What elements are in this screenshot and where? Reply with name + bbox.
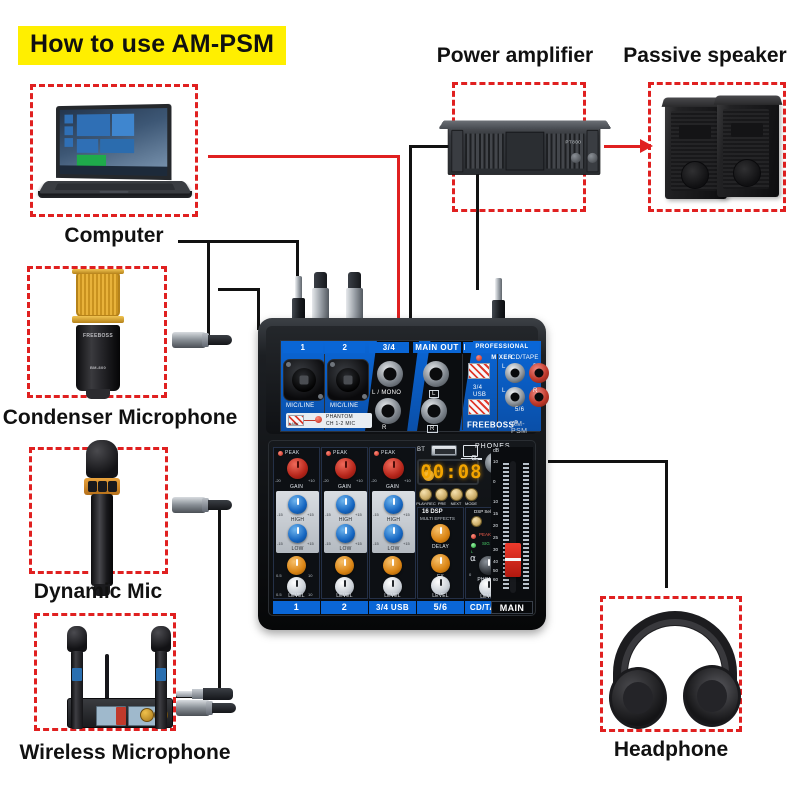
top-jack-mainout-l[interactable] [423,361,449,387]
bluetooth-label: BT [417,447,425,453]
vu-tick-10a: 10 [493,459,498,464]
peak-led-2 [326,451,331,456]
high-label-2: HIGH [324,517,367,523]
channel-strip-1: PEAK -20 +10 GAIN -15 +15 HIGH -15 +15 [273,447,320,599]
mixer-device[interactable]: 1 2 3/4 MAIN OUT POWER PROFESSIONAL MIXE… [258,318,546,630]
top-56-l: L [502,388,506,394]
peak-label-34: PEAK [381,450,396,456]
top-jack-ch2-label: MIC/LINE [330,403,358,409]
top-header-ch2: 2 [325,342,365,353]
top-cdtape-label: CD/TAPE [511,355,539,361]
vu-tick-40: 40 [493,559,498,564]
dsp-title: 16 DSP [422,509,443,515]
channel-strip-2: PEAK -20 +10 GAIN -15 +15 HIGH -15 +15 [321,447,368,599]
vu-tick-15: 15 [493,511,498,516]
sig-led-left [471,543,476,548]
level-label-1: LEVEL [274,593,319,599]
main-fader[interactable] [505,543,521,577]
line-mixer-to-headphone-h [548,460,668,463]
mixer-top-panel: 1 2 3/4 MAIN OUT POWER PROFESSIONAL MIXE… [266,326,538,434]
line-dynamicmic-up-h [218,288,260,291]
wireless-microphone-box [34,613,176,731]
top-ch56-label: 5/6 [515,407,524,413]
channel-strip-34: PEAK -20 +10 GAIN -15 +15 HIGH -15 +15 [369,447,416,599]
gain-knob-34[interactable] [383,458,404,479]
delay-knob[interactable] [431,524,450,543]
top-jack-ch1-label: MIC/LINE [286,403,314,409]
condenser-mic-brand: FREEBOSS [83,333,113,339]
wireless-microphone-icon [33,612,183,737]
rca-56-r[interactable] [529,387,549,407]
level-label-34: LEVEL [370,593,415,599]
laptop-icon [36,99,196,203]
power-amplifier-label: Power amplifier [420,44,610,68]
top-56-r: R [533,388,538,394]
line-computer-to-mixer-h [208,155,400,158]
line-mixer-to-amplifier-v [409,145,412,325]
mixer-model: AM-PSM [511,421,539,435]
top-sep-2 [462,354,463,430]
gain-scale-34-left: -20 [371,478,377,483]
fx-knob-2[interactable] [335,556,354,575]
eq-panel-34: -15 +15 HIGH -15 +15 LOW [372,491,415,553]
meter-peak-label: PEAK [479,532,491,537]
phantom-power-block: +48V PHANTOM CH 1-2 MIC [286,413,372,428]
vu-tick-0: 0 [493,479,496,484]
phones-headphone-icon: ⍺ [470,554,476,563]
eq-panel-1: -15 +15 HIGH -15 +15 LOW [276,491,319,553]
gain-knob-2[interactable] [335,458,356,479]
vu-tick-30: 30 [493,547,498,552]
line-wirelessmic-v [218,610,221,698]
mixer-brand-name: FREEBOSS [467,421,514,430]
vu-led-column-right [523,463,529,589]
transport-button-playrec[interactable] [419,488,432,501]
top-jack-mainout-r[interactable] [421,398,447,424]
high-knob-1[interactable] [288,495,307,514]
peak-led-34 [374,451,379,456]
main-vu-meter: dB 10 0 10 15 20 25 30 40 50 60 [491,447,533,599]
top-jack-34-r-label: R [382,425,387,431]
wireless-trs-connector [176,688,236,700]
gain-scale-2-right: +10 [356,478,363,483]
gain-label-2: GAIN [322,484,367,490]
power-amplifier-box: PT800 [452,82,586,212]
fx-knob-1[interactable] [287,556,306,575]
high-label-1: HIGH [276,517,319,523]
peak-label-2: PEAK [333,450,348,456]
passive-speaker-label: Passive speaker [610,44,800,68]
vu-tick-20: 20 [493,523,498,528]
dsp-subtitle: MULTI EFFECTS [420,516,455,521]
rca-cdtape-r[interactable] [529,363,549,383]
usb-select-switch[interactable] [468,399,490,415]
wireless-xlr-connector [176,700,238,716]
dsp-select-down-button[interactable] [471,516,482,527]
phones-jack-headphone-icon: ⍺ [471,453,477,462]
transport-label-mode: MODE [461,501,481,506]
top-header-mainout: MAIN OUT [413,342,461,353]
top-jack-34-l-label: L / MONO [372,390,401,396]
vu-tick-50: 50 [493,568,498,573]
headphone-cup-left [609,667,667,729]
low-label-34: LOW [372,546,415,552]
gain-scale-1-left: -20 [275,478,281,483]
vu-tick-60: 60 [493,577,498,582]
high-knob-2[interactable] [336,495,355,514]
top-header-ch34: 3/4 [369,342,409,353]
level-label-2: LEVEL [322,593,367,599]
top-jack-ch1[interactable] [283,359,325,401]
top-jack-34-r[interactable] [375,398,401,424]
peak-label-1: PEAK [285,450,300,456]
low-knob-2[interactable] [336,524,355,543]
gain-scale-2-left: -20 [323,478,329,483]
channel-tag-main: MAIN [491,601,533,614]
phantom-text-1: PHANTOM [326,414,353,420]
computer-box [30,84,198,217]
gain-knob-1[interactable] [287,458,308,479]
fx-knob-34[interactable] [383,556,402,575]
line-condensermic-v1 [207,240,210,342]
top-jack-34-l[interactable] [377,361,403,387]
low-label-1: LOW [276,546,319,552]
high-label-34: HIGH [372,517,415,523]
power-switch[interactable] [468,363,490,379]
vu-tick-10b: 10 [493,499,498,504]
condenser-mic-xlr-connector [172,332,234,348]
power-led [476,355,482,361]
channel-tag-34: 3/4 USB [369,601,416,614]
computer-label: Computer [30,224,198,248]
transport-button-pre[interactable] [435,488,448,501]
dynamic-microphone-label: Dynamic Mic [8,580,188,604]
top-jack-mainout-l-label: L [429,390,439,398]
delay-label: DELAY [418,544,463,550]
vu-unit-label: dB [493,448,499,454]
condenser-microphone-box: FREEBOSS BM-800 [27,266,167,398]
page-title-banner: How to use AM-PSM [18,26,286,65]
low-label-2: LOW [324,546,367,552]
passive-speaker-icon-right [717,101,779,197]
mixer-top-face: 1 2 3/4 MAIN OUT POWER PROFESSIONAL MIXE… [280,340,540,432]
dynamic-mic-xlr-connector [172,497,234,513]
condenser-microphone-icon: FREEBOSS BM-800 [46,269,150,401]
gain-label-1: GAIN [274,484,319,490]
channel-tag-2: 2 [321,601,368,614]
transport-button-mode[interactable] [465,488,478,501]
condenser-microphone-label: Condenser Microphone [0,406,240,430]
low-knob-34[interactable] [384,524,403,543]
vu-tick-25: 25 [493,535,498,540]
usb-port[interactable] [431,445,457,456]
top-usb-label-2: USB [473,392,486,398]
phantom-text-2: CH 1-2 MIC [326,421,355,427]
channel-tag-56: 5/6 [417,601,464,614]
peak-led-1 [278,451,283,456]
power-amplifier-icon: PT800 [448,125,601,178]
top-sep-3 [497,354,498,430]
top-usb-label-1: 3/4 [473,385,482,391]
passive-speaker-box [648,82,786,212]
low-knob-1[interactable] [288,524,307,543]
level-label-56: LEVEL [418,593,463,599]
high-knob-34[interactable] [384,495,403,514]
gain-scale-1-right: +10 [308,478,315,483]
wireless-microphone-label: Wireless Microphone [0,741,250,765]
line-mixer-to-headphone-v [665,460,668,588]
gain-scale-34-right: +10 [404,478,411,483]
transport-button-next[interactable] [450,488,463,501]
gain-label-34: GAIN [370,484,415,490]
fx-knob-56[interactable] [431,554,450,573]
channel-tag-1: 1 [273,601,320,614]
meter-sig-label: SIG [482,541,490,546]
headphone-cup-right [683,665,741,727]
rca-cdtape-l[interactable] [505,363,525,383]
channel-strip-56: 16 DSP MULTI EFFECTS DELAY FX LEVEL [417,507,464,599]
phantom-led [315,416,322,423]
dynamic-microphone-icon [56,436,148,596]
headphone-box [600,596,742,732]
mixer-front-panel: PEAK -20 +10 GAIN -15 +15 HIGH -15 +15 [268,440,536,616]
rca-56-l[interactable] [505,387,525,407]
condenser-mic-model: BM-800 [90,365,106,370]
dynamic-microphone-box [29,447,168,574]
top-header-professional-mixer: PROFESSIONAL MIXER [465,342,539,353]
eq-panel-2: -15 +15 HIGH -15 +15 LOW [324,491,367,553]
top-jack-mainout-r-label: R [427,425,438,433]
peak-led-left [471,534,476,539]
top-header-ch1: 1 [283,342,323,353]
page-title: How to use AM-PSM [30,30,274,58]
top-jack-ch2[interactable] [327,359,369,401]
phantom-voltage: +48V [289,421,298,426]
arrow-amplifier-to-speaker-shaft [604,145,642,148]
headphone-label: Headphone [596,738,746,762]
headphone-icon [595,605,755,729]
